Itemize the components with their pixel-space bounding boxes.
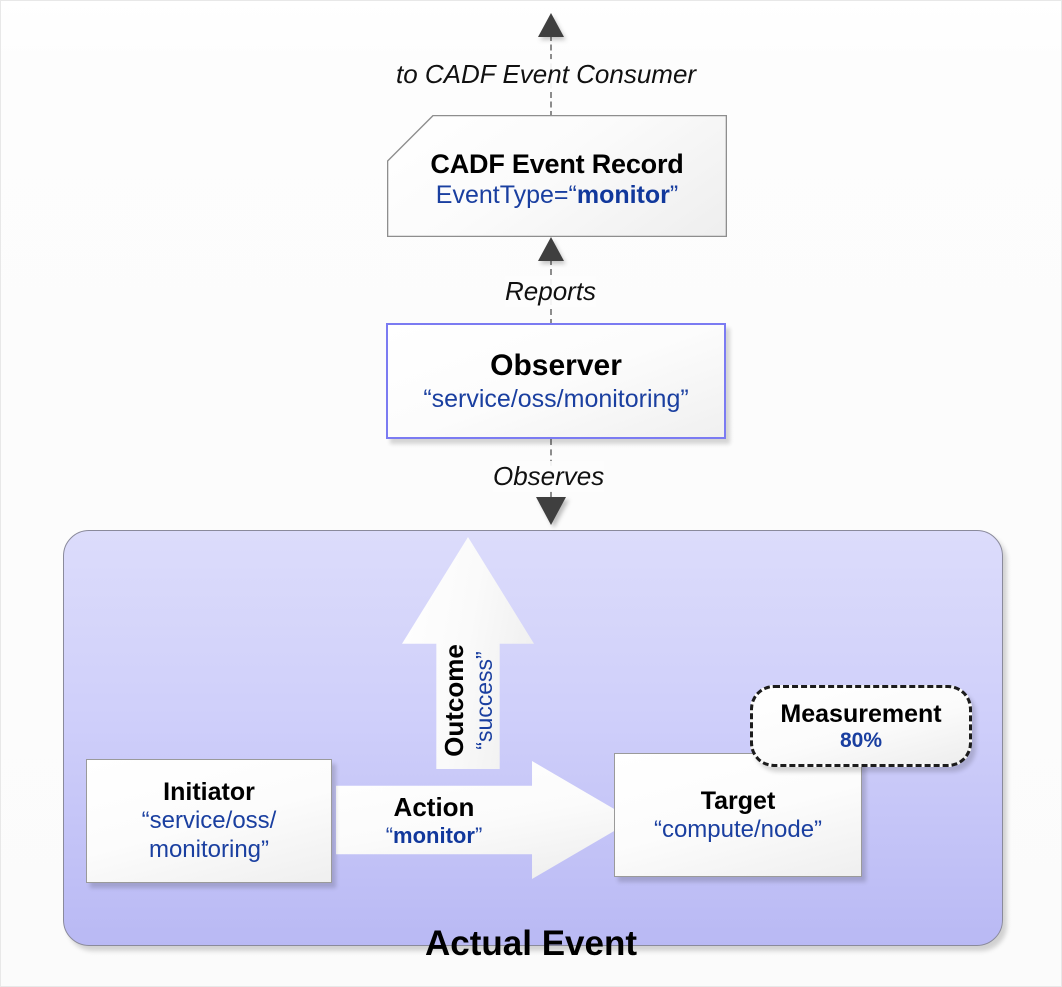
action-arrow-text: Action “monitor”	[336, 761, 532, 879]
cadf-event-type-suffix: ”	[670, 181, 678, 209]
action-title: Action	[394, 792, 475, 823]
observer-value: “service/oss/monitoring”	[423, 385, 688, 414]
observer-box[interactable]: Observer “service/oss/monitoring”	[386, 323, 726, 439]
target-box[interactable]: Target “compute/node”	[614, 753, 862, 877]
label-observes: Observes	[493, 461, 604, 492]
label-reports: Reports	[505, 276, 596, 307]
measurement-value: 80%	[840, 729, 882, 753]
cadf-event-type-prefix: EventType=“	[436, 181, 577, 209]
observes-arrow-head	[536, 497, 566, 525]
measurement-title: Measurement	[780, 700, 941, 729]
action-value: “monitor”	[386, 823, 483, 849]
target-title: Target	[701, 787, 776, 816]
cadf-event-record-box[interactable]: CADF Event Record EventType=“monitor”	[387, 115, 727, 237]
cadf-event-record-title: CADF Event Record	[430, 149, 683, 180]
action-value-text: monitor	[393, 823, 475, 848]
action-arrow[interactable]: Action “monitor”	[336, 761, 633, 879]
initiator-value-line2: monitoring”	[149, 836, 269, 864]
diagram-canvas: to CADF Event Consumer CADF Event Record…	[0, 0, 1062, 987]
initiator-box[interactable]: Initiator “service/oss/ monitoring”	[86, 759, 332, 883]
reports-arrow-head	[538, 237, 564, 261]
actual-event-title: Actual Event	[1, 924, 1061, 964]
initiator-title: Initiator	[163, 778, 255, 807]
initiator-value-line1: “service/oss/	[142, 807, 277, 835]
measurement-box[interactable]: Measurement 80%	[750, 685, 972, 767]
cadf-event-record-text: CADF Event Record EventType=“monitor”	[387, 115, 727, 237]
outcome-arrow-text: Outcome “success”	[402, 631, 534, 769]
target-value: “compute/node”	[654, 816, 822, 844]
outcome-title: Outcome	[439, 644, 470, 757]
outcome-arrow[interactable]: Outcome “success”	[402, 537, 534, 769]
outcome-value: “success”	[471, 651, 498, 749]
arrow-to-consumer-head	[538, 13, 564, 37]
action-value-suffix: ”	[475, 823, 482, 848]
cadf-event-type-value: monitor	[577, 181, 670, 209]
action-value-prefix: “	[386, 823, 393, 848]
cadf-event-record-value: EventType=“monitor”	[436, 181, 678, 210]
observer-title: Observer	[490, 349, 622, 383]
label-to-cadf-event-consumer: to CADF Event Consumer	[396, 59, 696, 90]
